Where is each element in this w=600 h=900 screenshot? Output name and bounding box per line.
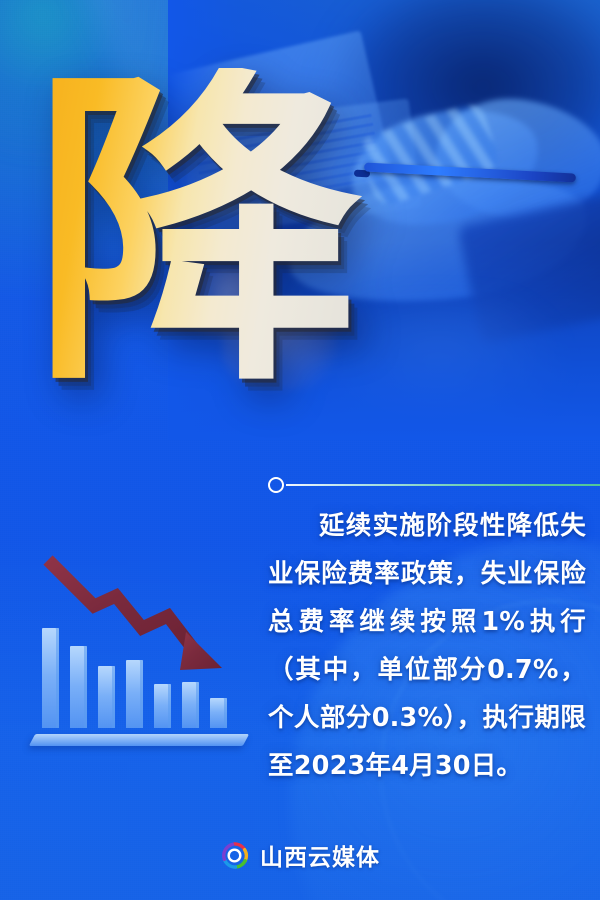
declining-bar-chart-icon <box>38 552 248 752</box>
divider <box>268 475 600 495</box>
trend-arrow-line <box>48 560 194 650</box>
circle-outline-icon <box>268 477 284 493</box>
brand-name: 山西云媒体 <box>260 838 380 872</box>
headline-glyph-container: 降 <box>32 68 362 438</box>
footer-brand: 山西云媒体 <box>0 838 600 872</box>
poster-root: 降 延续实施阶段性降低失业保险费率政策，失业保险总费率继续按照1%执行（其中，单… <box>0 0 600 900</box>
trend-arrow-head <box>180 632 222 670</box>
policy-body-text: 延续实施阶段性降低失业保险费率政策，失业保险总费率继续按照1%执行（其中，单位部… <box>268 502 586 790</box>
headline-glyph: 降 <box>32 68 362 398</box>
rainbow-ring-icon <box>220 841 249 870</box>
trend-arrow-group <box>48 560 222 670</box>
chart-trend-arrow-svg <box>38 552 248 712</box>
divider-rule <box>286 484 600 486</box>
chart-base-platform <box>29 734 249 746</box>
